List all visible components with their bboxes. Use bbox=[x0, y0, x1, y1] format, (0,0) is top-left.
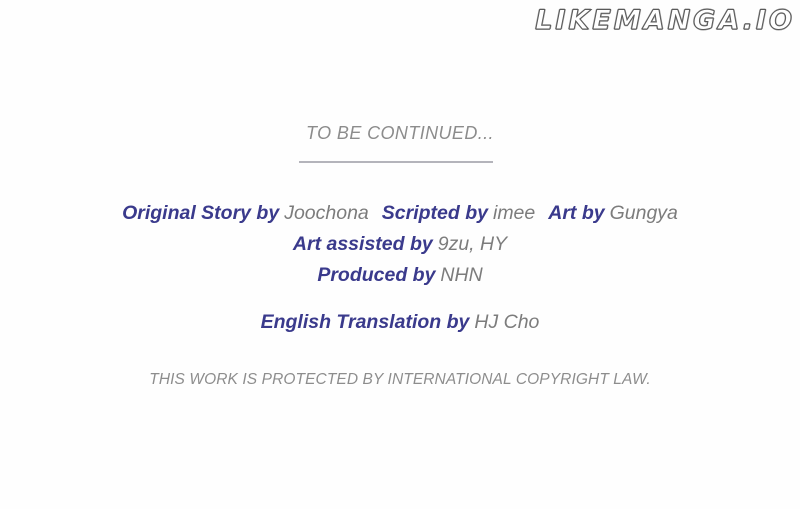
credit-role-label: Produced by bbox=[317, 264, 435, 286]
credits-block: Original Story byJoochonaScripted byimee… bbox=[0, 198, 800, 338]
credit-person-name: NHN bbox=[440, 264, 482, 286]
credit-line: Art assisted by9zu, HY bbox=[0, 229, 800, 260]
credit-role-label: Scripted by bbox=[382, 202, 488, 224]
likemanga-watermark: LIKEMANGA.IO bbox=[535, 4, 795, 38]
credit-line: Produced byNHN bbox=[0, 260, 800, 291]
to-be-continued-text: TO BE CONTINUED... bbox=[0, 123, 800, 144]
copyright-notice: THIS WORK IS PROTECTED BY INTERNATIONAL … bbox=[0, 371, 800, 389]
credit-person-name: 9zu, HY bbox=[438, 233, 507, 255]
comic-end-card-page: LIKEMANGA.IO TO BE CONTINUED... Original… bbox=[0, 0, 800, 509]
credit-line: Original Story byJoochonaScripted byimee… bbox=[0, 198, 800, 229]
credit-role-label: English Translation by bbox=[261, 311, 470, 333]
credit-role-label: Original Story by bbox=[122, 202, 279, 224]
credit-person-name: HJ Cho bbox=[474, 311, 539, 333]
horizontal-divider bbox=[299, 161, 493, 163]
credit-role-label: Art by bbox=[548, 202, 604, 224]
credit-person-name: Gungya bbox=[610, 202, 678, 224]
credit-person-name: Joochona bbox=[284, 202, 369, 224]
credit-role-label: Art assisted by bbox=[293, 233, 433, 255]
credit-line: English Translation byHJ Cho bbox=[0, 307, 800, 338]
credit-person-name: imee bbox=[493, 202, 535, 224]
